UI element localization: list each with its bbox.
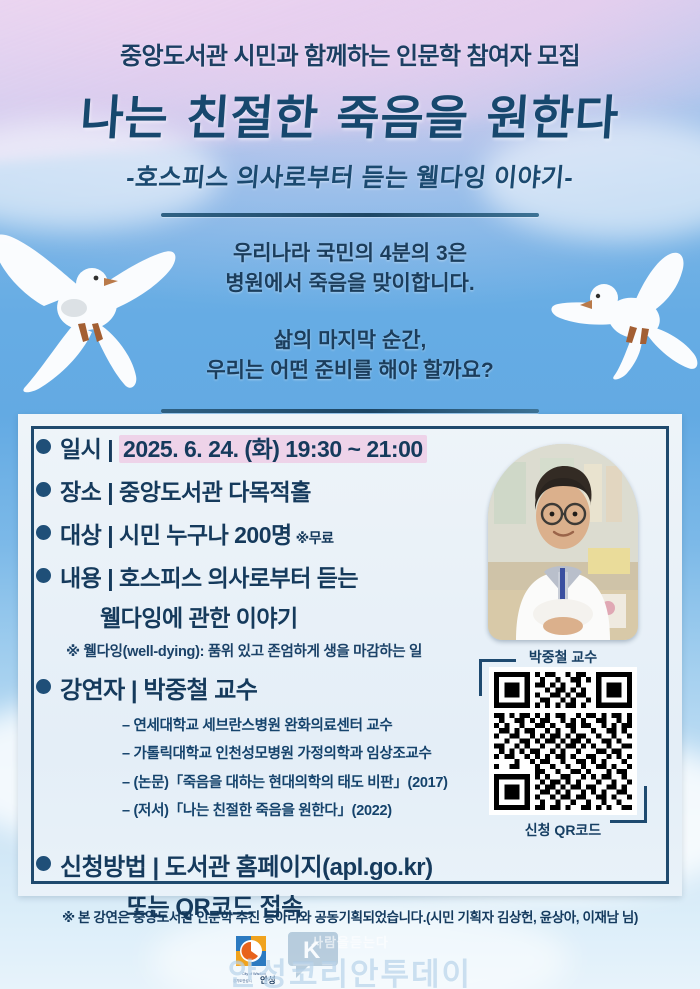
- divider-top: [161, 213, 539, 217]
- statement-block: 우리나라 국민의 4분의 3은 병원에서 죽음을 맞이합니다. 삶의 마지막 순…: [0, 213, 700, 413]
- apply-value-line1[interactable]: 도서관 홈페이지(apl.go.kr): [165, 854, 433, 881]
- qr-bracket-icon: [610, 786, 647, 823]
- statement-line-1: 우리나라 국민의 4분의 3은: [0, 239, 700, 269]
- svg-text:안성: 안성: [260, 975, 276, 985]
- watermark-logo-icon: K: [286, 930, 340, 980]
- separator: |: [153, 854, 159, 881]
- audience-value: 시민 누구나 200명: [119, 522, 292, 548]
- bullet-icon: [36, 525, 51, 540]
- statement-line-4: 우리는 어떤 준비를 해야 할까요?: [0, 356, 700, 386]
- content-value-line1: 호스피스 의사로부터 듣는: [119, 565, 358, 591]
- date-value: 2025. 6. 24. (화) 19:30 ~ 21:00: [119, 435, 427, 463]
- header-subtitle: -호스피스 의사로부터 듣는 웰다잉 이야기-: [0, 158, 700, 194]
- separator: |: [107, 565, 113, 591]
- separator: |: [107, 479, 113, 505]
- audience-label: 대상: [60, 522, 101, 548]
- bullet-icon: [36, 482, 51, 497]
- detail-row-apply: 신청방법 | 도서관 홈페이지(apl.go.kr): [36, 847, 668, 882]
- bullet-icon: [36, 439, 51, 454]
- qr-code[interactable]: [487, 667, 639, 815]
- separator: |: [131, 677, 137, 704]
- footer-logo-row: City of Wisdom 경기도안성시 안성: [0, 930, 700, 989]
- speaker-photo-block: 박중철 교수: [488, 444, 638, 667]
- place-label: 장소: [60, 479, 101, 505]
- place-value: 중앙도서관 다목적홀: [119, 479, 311, 505]
- page-title: 나는 친절한 죽음을 원한다: [0, 79, 700, 148]
- separator: |: [107, 436, 113, 462]
- qr-bracket-icon: [479, 659, 516, 696]
- svg-text:경기도안성시: 경기도안성시: [233, 978, 252, 983]
- content-label: 내용: [60, 565, 101, 591]
- bullet-icon: [36, 568, 51, 583]
- svg-text:K: K: [303, 937, 321, 964]
- speaker-label: 강연자: [60, 677, 125, 704]
- poster-canvas: 중앙도서관 시민과 함께하는 인문학 참여자 모집 나는 친절한 죽음을 원한다…: [0, 0, 700, 989]
- info-content: 일시 | 2025. 6. 24. (화) 19:30 ~ 21:00 장소 |…: [36, 428, 668, 888]
- audience-note: ※무료: [296, 530, 334, 546]
- bullet-icon: [36, 856, 51, 871]
- date-label: 일시: [60, 436, 101, 462]
- separator: |: [107, 522, 113, 548]
- qr-block: 신청 QR코드: [484, 667, 642, 840]
- footer-note: ※ 본 강연은 중앙도서관 인문학 추진 동아리와 공동기획되었습니다.(시민 …: [0, 906, 700, 926]
- statement-line-3: 삶의 마지막 순간,: [0, 326, 700, 356]
- qr-caption: 신청 QR코드: [484, 820, 642, 840]
- header-eyebrow: 중앙도서관 시민과 함께하는 인문학 참여자 모집: [0, 36, 700, 71]
- bullet-icon: [36, 679, 51, 694]
- apply-label: 신청방법: [60, 854, 146, 881]
- divider-bottom: [161, 409, 539, 413]
- poster-header: 중앙도서관 시민과 함께하는 인문학 참여자 모집 나는 친절한 죽음을 원한다…: [0, 36, 700, 194]
- speaker-name: 박중철 교수: [143, 677, 257, 704]
- speaker-photo: [488, 444, 638, 640]
- info-panel: 일시 | 2025. 6. 24. (화) 19:30 ~ 21:00 장소 |…: [18, 414, 682, 896]
- statement-line-2: 병원에서 죽음을 맞이합니다.: [0, 269, 700, 299]
